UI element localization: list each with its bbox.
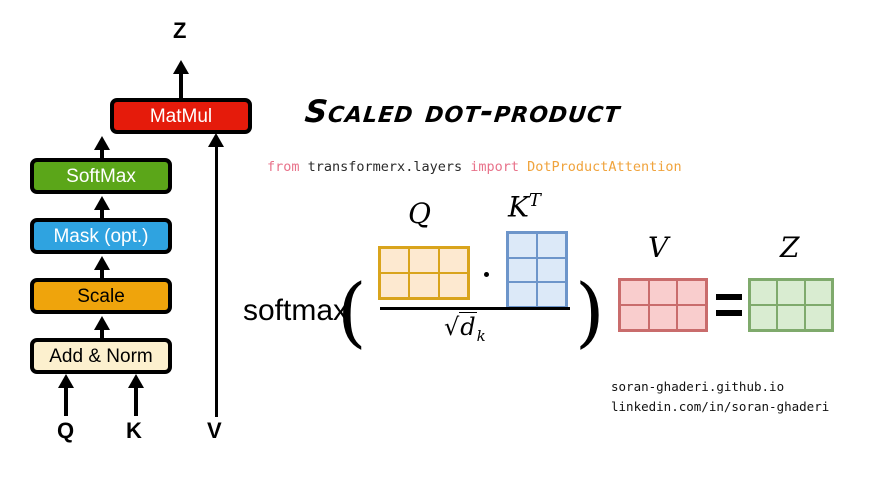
matrix-cell bbox=[677, 280, 706, 305]
node-add-norm-label: Add & Norm bbox=[49, 347, 152, 366]
matrix-kt bbox=[508, 233, 566, 307]
arrow-shaft-v-input bbox=[215, 145, 218, 417]
denominator-symbol: d bbox=[459, 312, 476, 341]
matrix-cell bbox=[805, 305, 832, 330]
code-class-name: DotProductAttention bbox=[527, 159, 681, 175]
matrix-cell bbox=[677, 305, 706, 330]
matrix-cell bbox=[537, 233, 566, 258]
formula-paren-close: ) bbox=[575, 274, 605, 350]
fraction-bar bbox=[380, 307, 570, 310]
matrix-v bbox=[620, 280, 706, 330]
denominator-subscript: k bbox=[477, 327, 486, 345]
equals-sign-bottom bbox=[716, 310, 742, 316]
arrow-shaft-q-input bbox=[64, 386, 68, 416]
matrix-cell bbox=[777, 280, 804, 305]
matrix-cell bbox=[620, 305, 649, 330]
matrix-cell bbox=[508, 282, 537, 307]
output-label-z: Z bbox=[173, 20, 186, 42]
radical-icon: √ bbox=[444, 313, 459, 341]
node-matmul[interactable]: MatMul bbox=[110, 98, 252, 134]
dot-operator-icon bbox=[484, 272, 489, 277]
matrix-cell bbox=[537, 258, 566, 283]
input-label-q: Q bbox=[57, 420, 74, 442]
node-scale-label: Scale bbox=[77, 287, 125, 306]
arrow-shaft-to-z bbox=[179, 72, 183, 99]
matrix-cell bbox=[508, 233, 537, 258]
matrix-cell bbox=[409, 248, 438, 273]
code-snippet: from transformerx.layers import DotProdu… bbox=[267, 159, 682, 175]
matrix-cell bbox=[439, 248, 468, 273]
matrix-cell bbox=[750, 305, 777, 330]
node-softmax-label: SoftMax bbox=[66, 167, 136, 186]
node-softmax[interactable]: SoftMax bbox=[30, 158, 172, 194]
matrix-z bbox=[750, 280, 832, 330]
matrix-cell bbox=[649, 305, 678, 330]
matrix-cell bbox=[750, 280, 777, 305]
matrix-label-kt-base: K bbox=[508, 190, 529, 223]
node-add-norm[interactable]: Add & Norm bbox=[30, 338, 172, 374]
matrix-cell bbox=[409, 273, 438, 298]
node-scale[interactable]: Scale bbox=[30, 278, 172, 314]
matrix-cell bbox=[380, 248, 409, 273]
code-module-path: transformerx.layers bbox=[308, 159, 462, 175]
matrix-cell bbox=[537, 282, 566, 307]
node-matmul-label: MatMul bbox=[150, 107, 212, 126]
matrix-cell bbox=[439, 273, 468, 298]
formula-paren-open: ( bbox=[337, 274, 367, 350]
matrix-cell bbox=[508, 258, 537, 283]
matrix-label-kt: KT bbox=[508, 192, 541, 221]
matrix-label-v: V bbox=[648, 234, 668, 262]
equals-sign-top bbox=[716, 294, 742, 300]
panel-title: Scaled dot-product bbox=[303, 94, 622, 130]
code-keyword-import: import bbox=[470, 159, 519, 175]
matrix-cell bbox=[777, 305, 804, 330]
matrix-cell bbox=[805, 280, 832, 305]
matrix-label-q: Q bbox=[408, 200, 431, 228]
matrix-cell bbox=[380, 273, 409, 298]
formula-denominator: √dk bbox=[444, 315, 486, 344]
formula-function-name: softmax bbox=[243, 296, 348, 326]
code-keyword-from: from bbox=[267, 159, 300, 175]
matrix-label-kt-superscript: T bbox=[529, 190, 541, 211]
node-mask-label: Mask (opt.) bbox=[53, 227, 148, 246]
matrix-cell bbox=[649, 280, 678, 305]
footer-link-github[interactable]: soran-ghaderi.github.io bbox=[611, 381, 784, 394]
arrow-shaft-k-input bbox=[134, 386, 138, 416]
matrix-cell bbox=[620, 280, 649, 305]
input-label-k: K bbox=[126, 420, 142, 442]
matrix-q bbox=[380, 248, 468, 298]
figure-canvas: Z MatMul SoftMax Mask (opt.) Scale Add &… bbox=[0, 0, 881, 492]
matrix-label-z: Z bbox=[780, 234, 799, 262]
footer-link-linkedin[interactable]: linkedin.com/in/soran-ghaderi bbox=[611, 401, 829, 414]
node-mask[interactable]: Mask (opt.) bbox=[30, 218, 172, 254]
input-label-v: V bbox=[207, 420, 222, 442]
